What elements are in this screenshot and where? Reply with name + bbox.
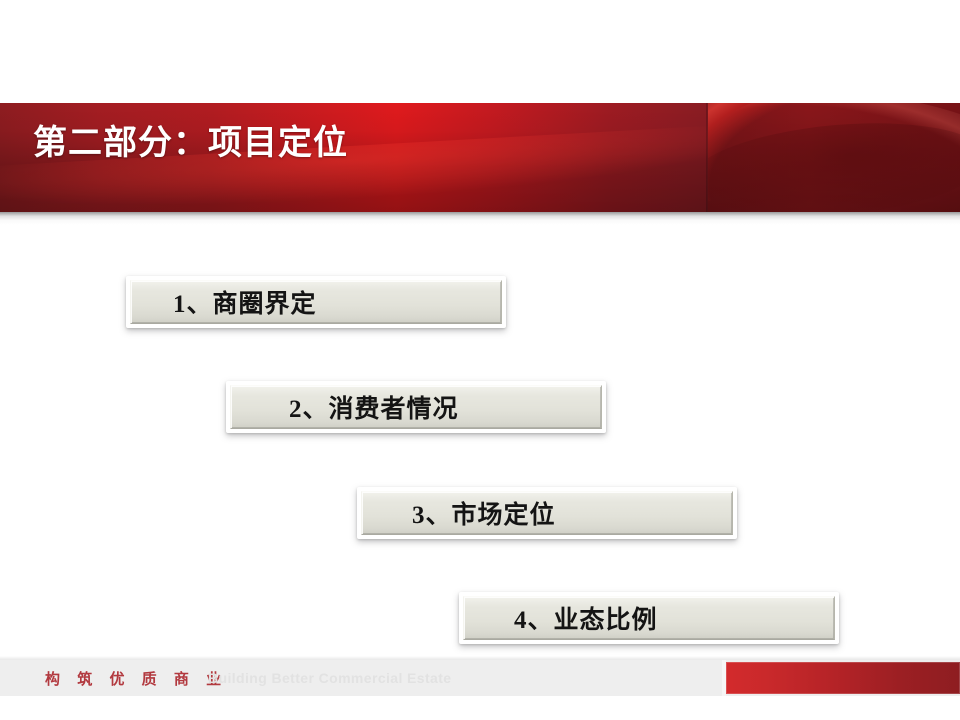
page-title: 第二部分：项目定位 bbox=[33, 126, 348, 160]
presentation-slide: 第二部分：项目定位 1、商圈界定 2、消费者情况 3、市场定位 4、业态比例 构… bbox=[0, 0, 960, 720]
agenda-item-3-label: 3、市场定位 bbox=[412, 495, 556, 531]
header-drop-shadow bbox=[0, 212, 960, 225]
footer-accent-bar bbox=[726, 662, 960, 694]
footer-slogan-cn: 构 筑 优 质 商 业 bbox=[45, 668, 227, 689]
header-right-panel bbox=[708, 103, 960, 212]
agenda-item-1-surface: 1、商圈界定 bbox=[130, 280, 502, 324]
agenda-item-3[interactable]: 3、市场定位 bbox=[357, 487, 737, 539]
agenda-item-1-label: 1、商圈界定 bbox=[173, 284, 317, 320]
agenda-item-2-label: 2、消费者情况 bbox=[289, 389, 459, 425]
agenda-item-2[interactable]: 2、消费者情况 bbox=[226, 381, 606, 433]
agenda-item-4-label: 4、业态比例 bbox=[514, 600, 658, 636]
footer-slogan-en: Building Better Commercial Estate bbox=[208, 670, 451, 686]
agenda-item-4-surface: 4、业态比例 bbox=[463, 596, 835, 640]
agenda-item-3-surface: 3、市场定位 bbox=[361, 491, 733, 535]
agenda-item-4[interactable]: 4、业态比例 bbox=[459, 592, 839, 644]
agenda-item-2-surface: 2、消费者情况 bbox=[230, 385, 602, 429]
agenda-item-1[interactable]: 1、商圈界定 bbox=[126, 276, 506, 328]
